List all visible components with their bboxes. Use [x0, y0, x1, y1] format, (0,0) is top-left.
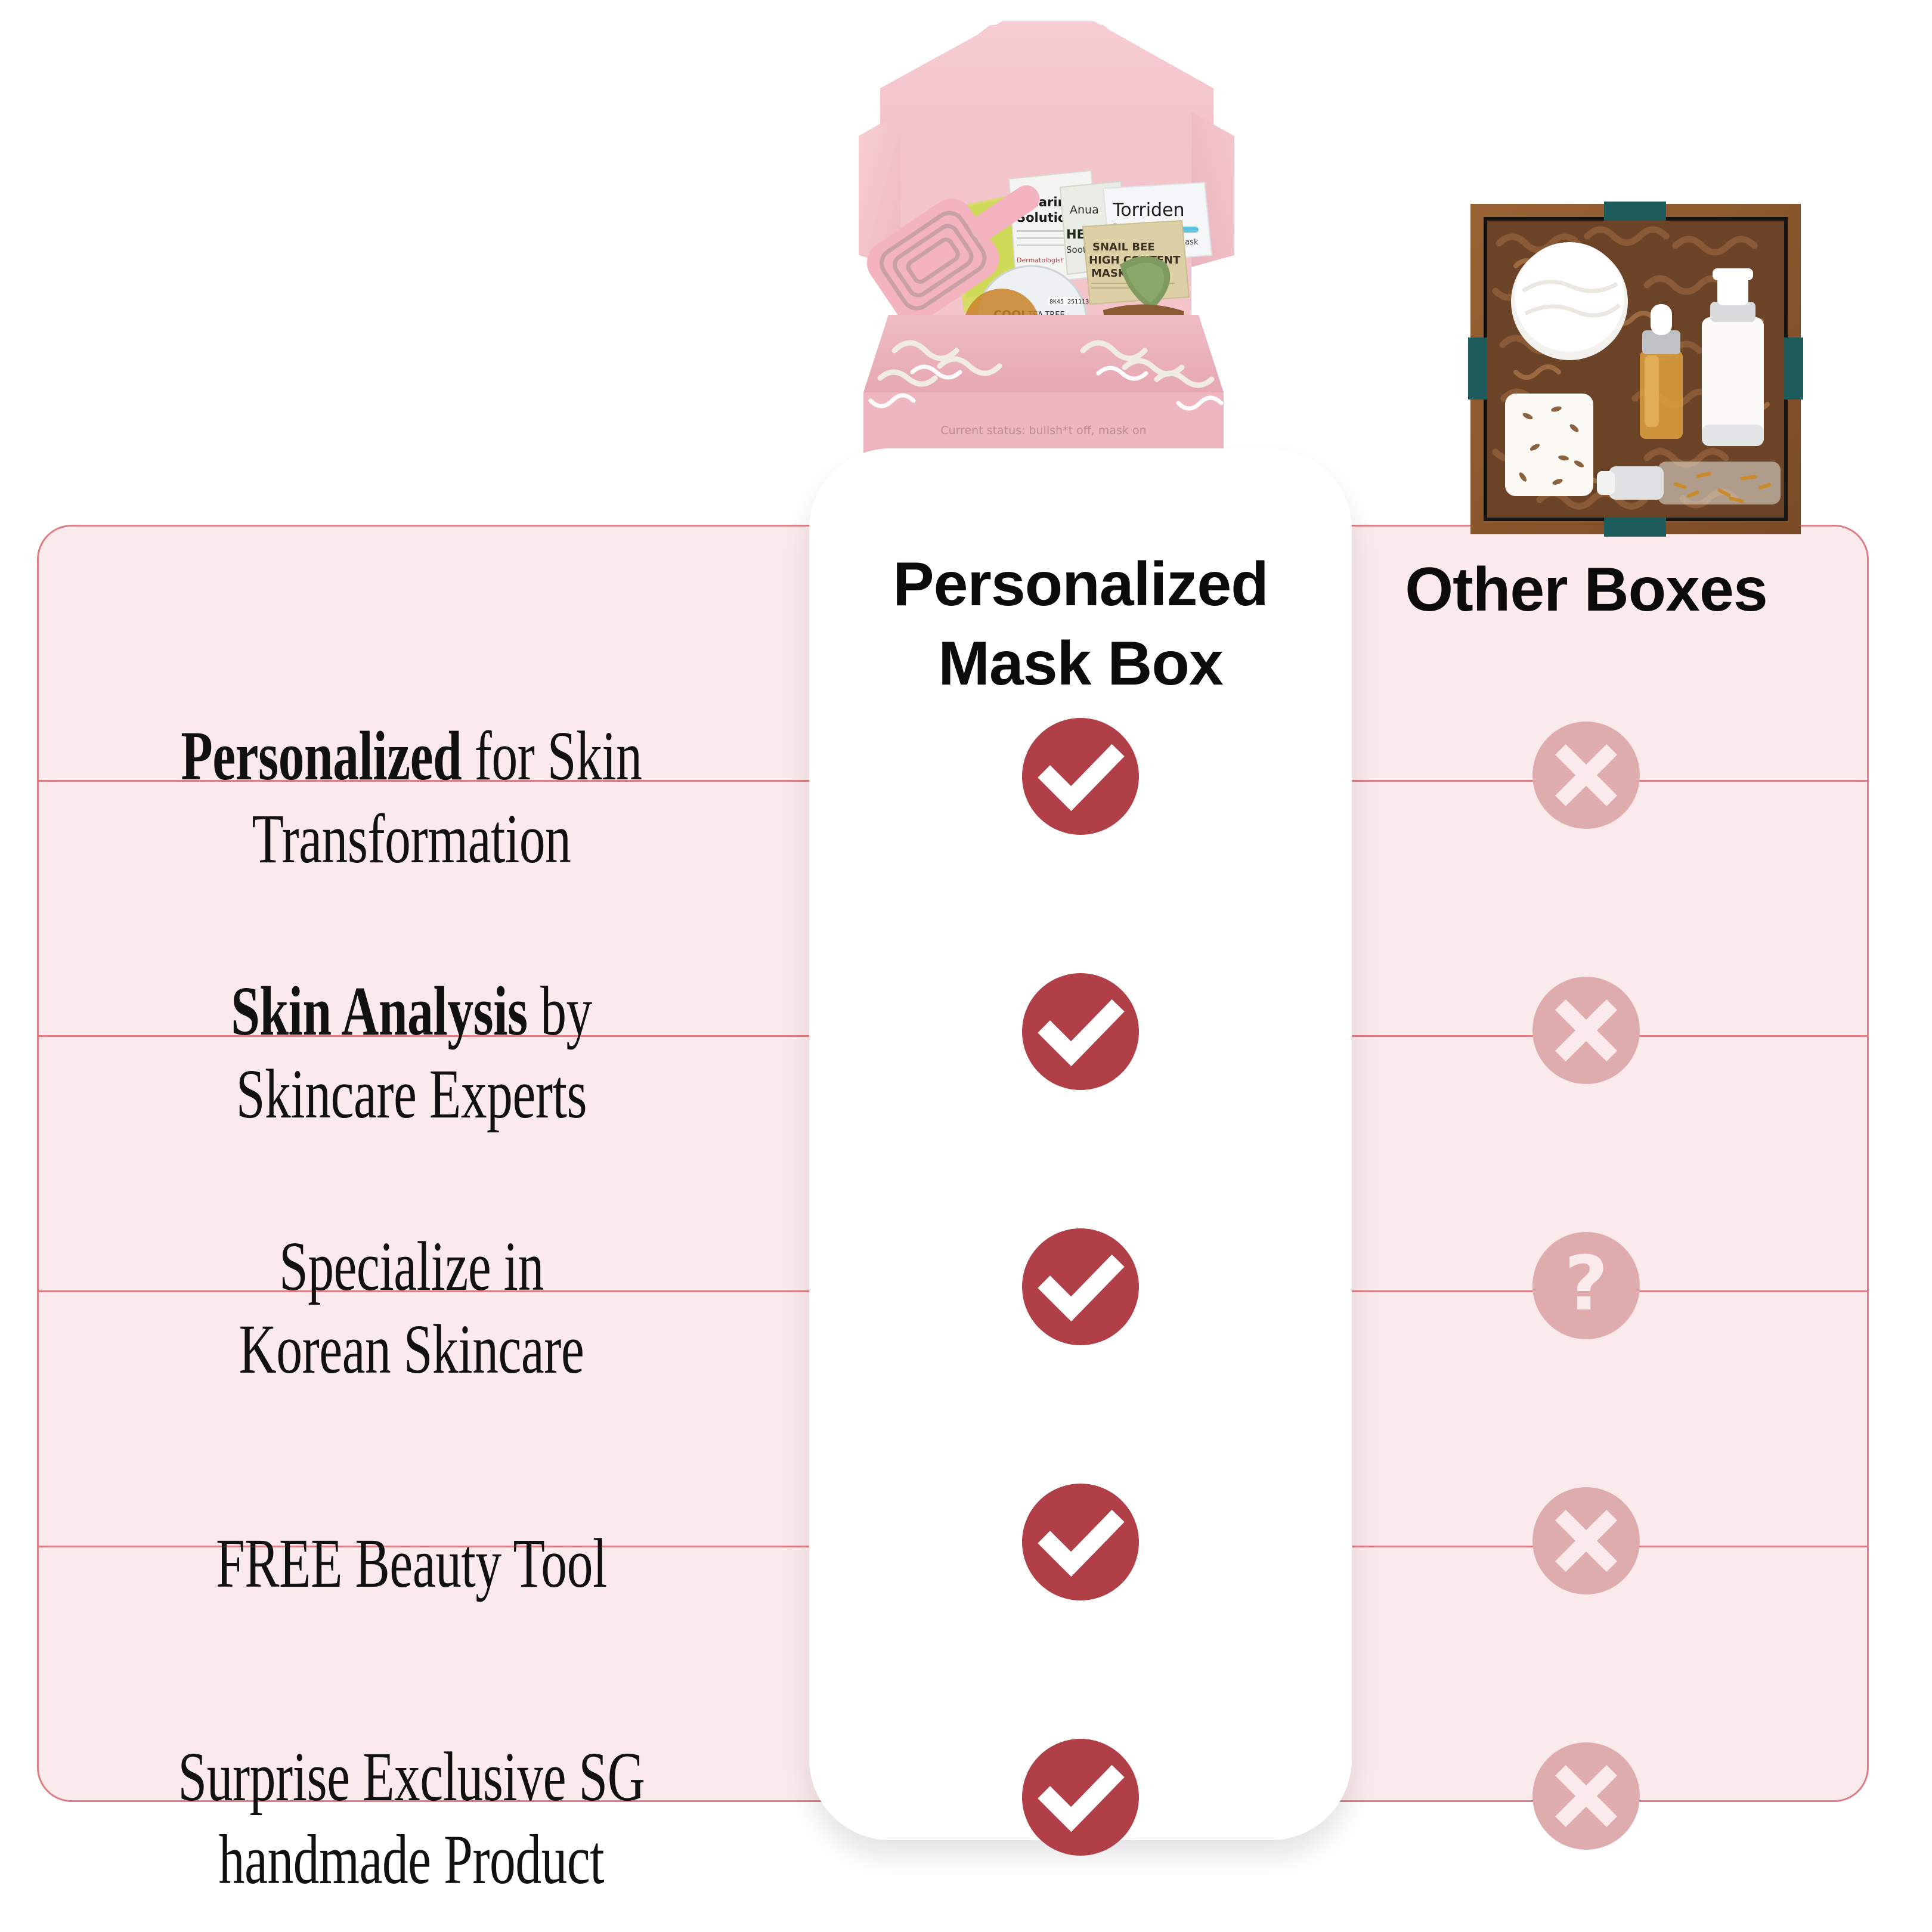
feature-label-4-rest: Surprise Exclusive SG handmade Product	[178, 1738, 645, 1899]
check-icon	[1022, 718, 1139, 835]
check-cell-2	[809, 1227, 1352, 1346]
check-cell-4	[809, 1738, 1352, 1857]
personalized-mask-box-image: Clearing Solution Dermatologist tested A…	[823, 17, 1264, 518]
highlight-column-card: Personalized Mask Box	[809, 448, 1352, 1840]
cross-icon	[1532, 1487, 1640, 1594]
feature-label-4: Surprise Exclusive SG handmade Product	[143, 1735, 681, 1901]
other-boxes-image	[1468, 202, 1803, 537]
check-cell-1	[809, 972, 1352, 1091]
other-cell-1	[1330, 977, 1843, 1084]
svg-text:SNAIL BEE: SNAIL BEE	[1092, 241, 1155, 253]
cross-icon	[1532, 977, 1640, 1084]
check-icon	[1022, 973, 1139, 1090]
check-icon	[1022, 1228, 1139, 1345]
highlight-column-title: Personalized Mask Box	[809, 545, 1352, 704]
feature-label-2-rest: Specialize in Korean Skincare	[239, 1227, 584, 1388]
check-icon	[1022, 1739, 1139, 1856]
feature-label-3: FREE Beauty Tool	[143, 1522, 681, 1605]
cross-icon	[1532, 1742, 1640, 1850]
question-icon: ?	[1532, 1232, 1640, 1339]
feature-label-0: Personalized for Skin Transformation	[143, 714, 681, 880]
box-slogan: Current status: bullsh*t off, mask on	[940, 424, 1146, 437]
comparison-infographic: Personalized for Skin Transformation Ski…	[0, 0, 1932, 1932]
svg-text:Anua: Anua	[1070, 203, 1099, 216]
cross-icon	[1532, 722, 1640, 829]
feature-label-0-lead: Personalized	[181, 717, 462, 795]
check-cell-3	[809, 1482, 1352, 1602]
feature-label-1: Skin Analysis by Skincare Experts	[143, 970, 681, 1135]
other-column-title: Other Boxes	[1330, 555, 1843, 626]
check-icon	[1022, 1484, 1139, 1600]
other-cell-3	[1330, 1487, 1843, 1594]
question-glyph: ?	[1564, 1246, 1608, 1321]
svg-text:8K45 251113: 8K45 251113	[1049, 299, 1089, 305]
feature-label-1-lead: Skin Analysis	[231, 972, 528, 1050]
other-cell-0	[1330, 722, 1843, 829]
feature-label-2: Specialize in Korean Skincare	[143, 1225, 681, 1391]
other-cell-4	[1330, 1742, 1843, 1850]
check-cell-0	[809, 717, 1352, 836]
feature-label-3-rest: FREE Beauty Tool	[216, 1524, 607, 1602]
svg-text:Torriden: Torriden	[1112, 200, 1185, 221]
other-cell-2: ?	[1330, 1232, 1843, 1339]
